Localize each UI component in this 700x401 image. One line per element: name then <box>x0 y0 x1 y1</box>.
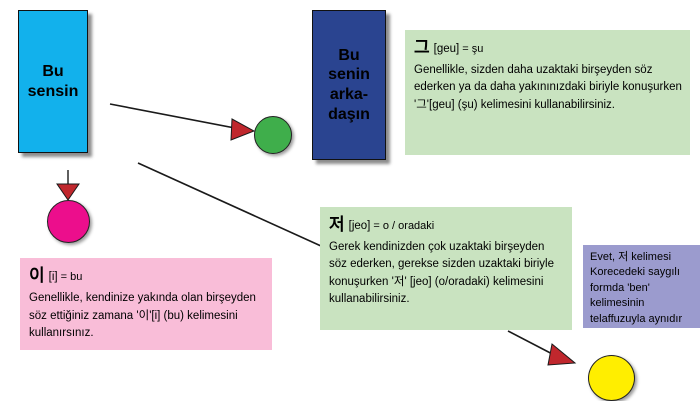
arrow-jeo-to-yellow <box>508 331 575 365</box>
arrow-speaker-to-green <box>110 104 254 140</box>
note-geu-body: Genellikle, sizden daha uzaktaki birşeyd… <box>414 62 682 114</box>
note-geu-headline: 그[geu]= şu <box>414 36 682 61</box>
note-geu: 그[geu]= şu Genellikle, sizden daha uzakt… <box>405 30 690 155</box>
friend-box[interactable]: Bu senin arka- daşın <box>312 10 386 160</box>
friend-box-line-1: Bu <box>338 47 359 64</box>
note-geu-hangul: 그 <box>414 38 430 58</box>
friend-box-line-4: daşın <box>328 106 370 123</box>
note-jeo: 저[jeo]= o / oradaki Gerek kendinizden ço… <box>320 207 572 330</box>
diagram-canvas: Bu sensin Bu senin arka- daşın 그[geu]= ş… <box>0 0 700 401</box>
note-jeo-body: Gerek kendinizden çok uzaktaki birşeyden… <box>329 239 564 308</box>
note-jeo-romanization: [jeo] <box>349 220 371 232</box>
friend-box-line-3: arka- <box>330 86 368 103</box>
speaker-box-line-1: Bu <box>42 63 63 80</box>
note-geu-romanization: [geu] <box>434 43 460 55</box>
friend-box-label: Bu senin arka- daşın <box>328 46 370 124</box>
arrow-speaker-to-magenta <box>57 170 79 200</box>
speaker-box[interactable]: Bu sensin <box>18 10 88 153</box>
note-i-gloss: = bu <box>61 271 83 283</box>
green-circle[interactable] <box>254 116 292 154</box>
speaker-box-line-2: sensin <box>28 83 79 100</box>
note-jeo-body-hangul: 저 <box>394 274 405 288</box>
note-aside-text: Evet, 저 kelimesi Korecedeki saygılı form… <box>590 251 682 325</box>
note-i: 이[i]= bu Genellikle, kendinize yakında o… <box>20 258 272 350</box>
note-aside: Evet, 저 kelimesi Korecedeki saygılı form… <box>583 245 700 328</box>
note-geu-body-tail: '[geu] (şu) kelimesini kullanabilirsiniz… <box>427 99 615 111</box>
yellow-circle[interactable] <box>588 355 635 401</box>
note-geu-gloss: = şu <box>462 43 483 55</box>
magenta-circle[interactable] <box>47 200 90 243</box>
note-jeo-headline: 저[jeo]= o / oradaki <box>329 213 564 238</box>
line-speaker-to-jeo-note <box>138 163 321 246</box>
note-geu-body-hangul: 그 <box>416 97 427 111</box>
note-jeo-hangul: 저 <box>329 215 345 235</box>
friend-box-line-2: senin <box>328 66 370 83</box>
note-i-headline: 이[i]= bu <box>29 264 264 289</box>
note-aside-hangul: 저 <box>618 250 628 263</box>
note-i-romanization: [i] <box>49 271 58 283</box>
note-i-body: Genellikle, kendinize yakında olan birşe… <box>29 290 264 342</box>
note-aside-lead: Evet, <box>590 251 618 263</box>
note-i-hangul: 이 <box>29 266 45 286</box>
speaker-box-label: Bu sensin <box>28 62 79 101</box>
note-i-body-hangul: 이 <box>139 308 150 322</box>
note-jeo-gloss: = o / oradaki <box>373 220 434 232</box>
